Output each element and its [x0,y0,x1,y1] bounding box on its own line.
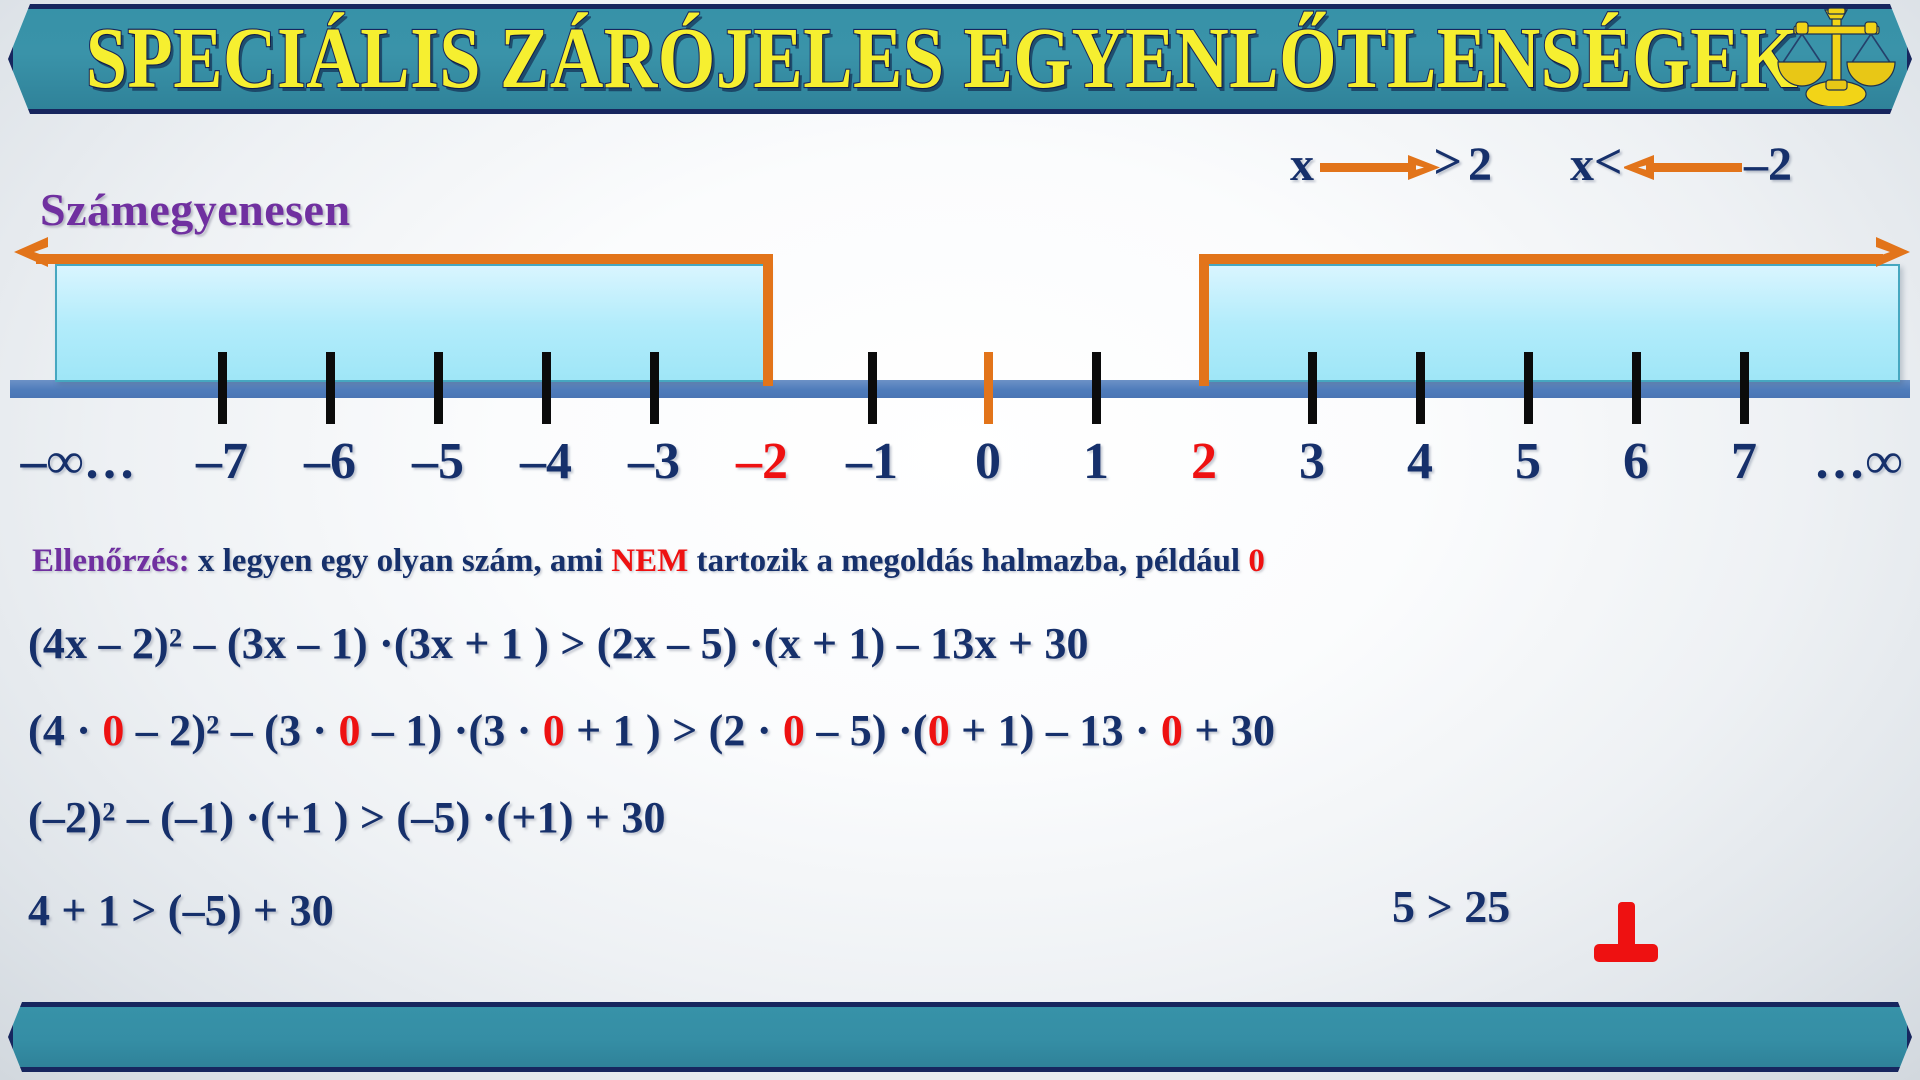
eq2-substituted-value: 0 [102,706,124,755]
axis-label: 3 [1299,432,1325,491]
tick-mark [434,352,443,424]
bottom-bar [8,1002,1912,1072]
title-inner: SPECIÁLIS ZÁRÓJELES EGYENLŐTLENSÉGEK [13,9,1907,109]
verification-text-1: x legyen egy olyan szám, ami [190,543,612,579]
number-line-axis [10,380,1910,398]
boundary-line-plus-2 [1199,254,1209,386]
condition-variable: x [1570,137,1594,192]
axis-label: –∞… [20,432,135,491]
up-tack-false-icon [1590,900,1662,972]
tick-mark-zero-highlight [984,352,993,424]
axis-label: –1 [846,432,898,491]
axis-label: 4 [1407,432,1433,491]
eq2-substituted-value: 0 [783,706,805,755]
tick-mark [1308,352,1317,424]
eq2-seg: + 1) – 13 · [950,706,1161,755]
condition-relation-wrap: > [1314,136,1462,192]
eq2-seg: + 30 [1183,706,1275,755]
eq2-substituted-value: 0 [339,706,361,755]
tick-mark [1632,352,1641,424]
axis-label: 1 [1083,432,1109,491]
axis-label: 7 [1731,432,1757,491]
tick-mark [542,352,551,424]
axis-label: –7 [196,432,248,491]
axis-label-plus-2: 2 [1191,432,1217,491]
ray-left [36,254,768,264]
verification-label: Ellenőrzés: [32,543,190,579]
condition-value: 2 [1468,137,1492,192]
tick-mark [1524,352,1533,424]
axis-label: 5 [1515,432,1541,491]
arrow-right-icon [1320,154,1442,180]
balance-scale-icon [1770,2,1902,106]
arrow-left-head-icon [8,233,50,271]
condition-variable: x [1290,137,1314,192]
axis-label: –4 [520,432,572,491]
eq2-seg: – 1) ·(3 · [361,706,543,755]
verification-emphasis: NEM [611,543,688,579]
title-banner: SPECIÁLIS ZÁRÓJELES EGYENLŐTLENSÉGEK [8,4,1912,114]
tick-mark [326,352,335,424]
axis-label: –3 [628,432,680,491]
eq2-seg: – 5) ·( [805,706,928,755]
eq2-seg: + 1 ) > (2 · [565,706,783,755]
tick-mark [650,352,659,424]
page-subtitle: Számegyenesen [40,183,351,236]
solution-region-left [55,264,767,382]
verification-text-2: tartozik a megoldás halmazba, például [688,543,1248,579]
eq2-substituted-value: 0 [1161,706,1183,755]
axis-label: 0 [975,432,1001,491]
tick-mark [1740,352,1749,424]
eq2-seg: – 2)² – (3 · [125,706,339,755]
axis-label: –5 [412,432,464,491]
arrow-left-icon [1624,154,1742,180]
axis-label: …∞ [1813,432,1902,491]
tick-mark [1416,352,1425,424]
eq2-substituted-value: 0 [928,706,950,755]
tick-mark [218,352,227,424]
axis-label: –6 [304,432,356,491]
condition-relation-sign: < [1594,132,1623,190]
condition-x-less-than-minus-2: x < –2 [1570,136,1792,192]
condition-x-greater-than-2: x > 2 [1290,136,1492,192]
ray-right [1199,254,1883,264]
equation-line-2: (4 · 0 – 2)² – (3 · 0 – 1) ·(3 · 0 + 1 )… [28,705,1275,756]
axis-label: 6 [1623,432,1649,491]
arrow-right-head-icon [1874,233,1916,271]
tick-mark [868,352,877,424]
page-title: SPECIÁLIS ZÁRÓJELES EGYENLŐTLENSÉGEK [86,9,1798,109]
eq2-seg: (4 · [28,706,102,755]
equation-line-4: 4 + 1 > (–5) + 30 [28,885,334,936]
verification-line: Ellenőrzés: x legyen egy olyan szám, ami… [32,543,1265,580]
result-inequality: 5 > 25 [1392,880,1510,933]
tick-mark [1092,352,1101,424]
equation-line-1: (4x – 2)² – (3x – 1) ·(3x + 1 ) > (2x – … [28,618,1089,669]
verification-value: 0 [1248,543,1265,579]
condition-relation-sign: > [1434,132,1463,190]
condition-value: –2 [1744,137,1792,192]
boundary-line-minus-2 [763,254,773,386]
eq2-substituted-value: 0 [543,706,565,755]
number-line: –∞… –7 –6 –5 –4 –3 –2 –1 0 1 2 3 4 5 6 7… [0,240,1920,500]
axis-label-minus-2: –2 [736,432,788,491]
equation-line-3: (–2)² – (–1) ·(+1 ) > (–5) ·(+1) + 30 [28,792,666,843]
condition-relation-wrap: < [1594,136,1742,192]
